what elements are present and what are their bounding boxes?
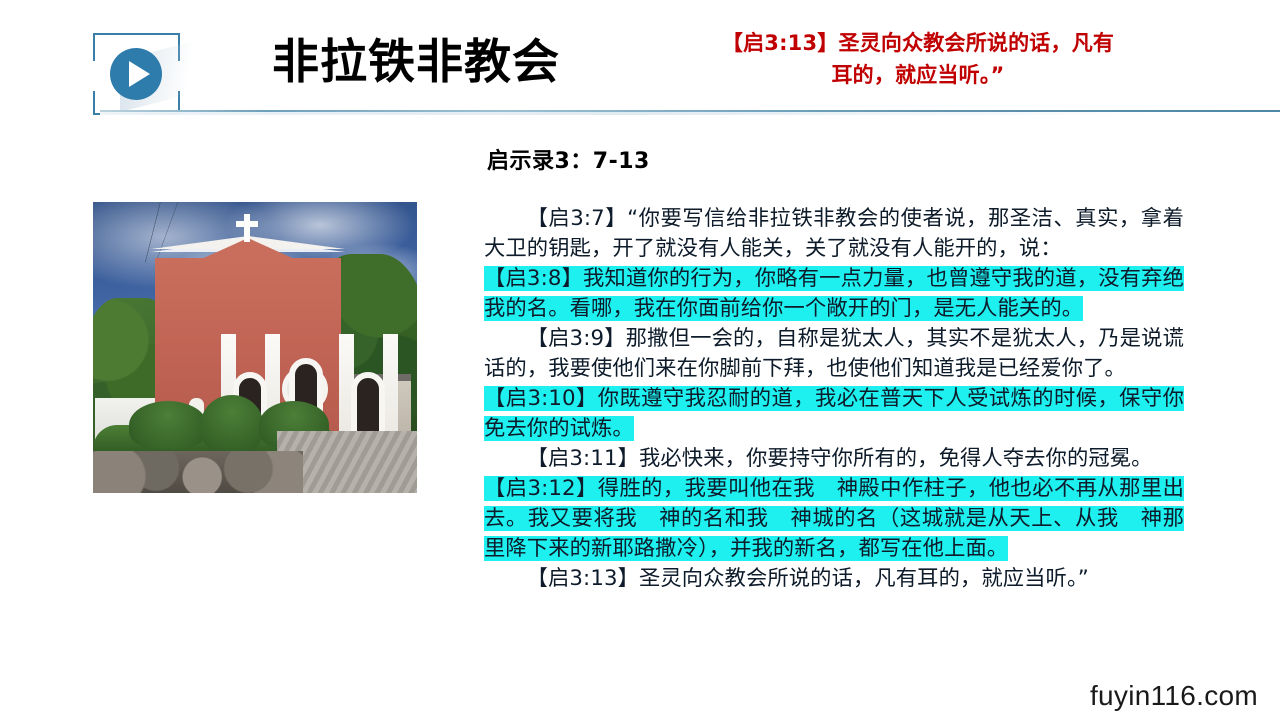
scripture-body: 【启3:7】“你要写信给非拉铁非教会的使者说，那圣洁、真实，拿着大卫的钥匙，开了… [484, 204, 1184, 594]
photo-stone-wall [93, 451, 303, 493]
scripture-paragraph: 【启3:7】“你要写信给非拉铁非教会的使者说，那圣洁、真实，拿着大卫的钥匙，开了… [484, 204, 1184, 264]
slide-header: 非拉铁非教会 【启3:13】圣灵向众教会所说的话，凡有耳的，就应当听。” [0, 0, 1280, 130]
page-title: 非拉铁非教会 [272, 36, 560, 90]
scripture-paragraph: 【启3:11】我必快来，你要持守你所有的，免得人夺去你的冠冕。 [484, 444, 1184, 474]
scripture-text-highlighted: 【启3:12】得胜的，我要叫他在我 神殿中作柱子，他也必不再从那里出去。我又要将… [484, 476, 1184, 561]
play-icon[interactable] [110, 48, 162, 100]
site-watermark: fuyin116.com [1090, 680, 1258, 712]
scripture-text: 【启3:9】那撒但一会的，自称是犹太人，其实不是犹太人，乃是说谎话的，我要使他们… [484, 326, 1184, 381]
play-triangle-icon [129, 61, 150, 87]
scripture-text-highlighted: 【启3:10】你既遵守我忍耐的道，我必在普天下人受试炼的时候，保守你免去你的试炼… [484, 386, 1184, 441]
photo-shrub [129, 401, 207, 449]
header-verse-text: 【启3:13】圣灵向众教会所说的话，凡有耳的，就应当听。” [718, 28, 1118, 91]
photo-shrub [201, 395, 263, 453]
scripture-paragraph: 【启3:10】你既遵守我忍耐的道，我必在普天下人受试炼的时候，保守你免去你的试炼… [484, 384, 1184, 444]
header-rule-glow [100, 112, 1160, 115]
scripture-text: 【启3:11】我必快来，你要持守你所有的，免得人夺去你的冠冕。 [527, 446, 1153, 471]
scripture-text: 【启3:7】“你要写信给非拉铁非教会的使者说，那圣洁、真实，拿着大卫的钥匙，开了… [484, 206, 1184, 261]
cross-icon [244, 214, 250, 242]
scripture-reference-heading: 启示录3：7-13 [487, 143, 650, 175]
scripture-paragraph: 【启3:9】那撒但一会的，自称是犹太人，其实不是犹太人，乃是说谎话的，我要使他们… [484, 324, 1184, 384]
scripture-paragraph: 【启3:13】圣灵向众教会所说的话，凡有耳的，就应当听。” [484, 564, 1184, 594]
church-photo [93, 202, 417, 493]
scripture-text-highlighted: 【启3:8】我知道你的行为，你略有一点力量，也曾遵守我的道，没有弃绝我的名。看哪… [484, 266, 1184, 321]
header-divider [100, 110, 1280, 112]
scripture-text: 【启3:13】圣灵向众教会所说的话，凡有耳的，就应当听。” [527, 566, 1089, 591]
scripture-paragraph: 【启3:8】我知道你的行为，你略有一点力量，也曾遵守我的道，没有弃绝我的名。看哪… [484, 264, 1184, 324]
scripture-paragraph: 【启3:12】得胜的，我要叫他在我 神殿中作柱子，他也必不再从那里出去。我又要将… [484, 474, 1184, 564]
